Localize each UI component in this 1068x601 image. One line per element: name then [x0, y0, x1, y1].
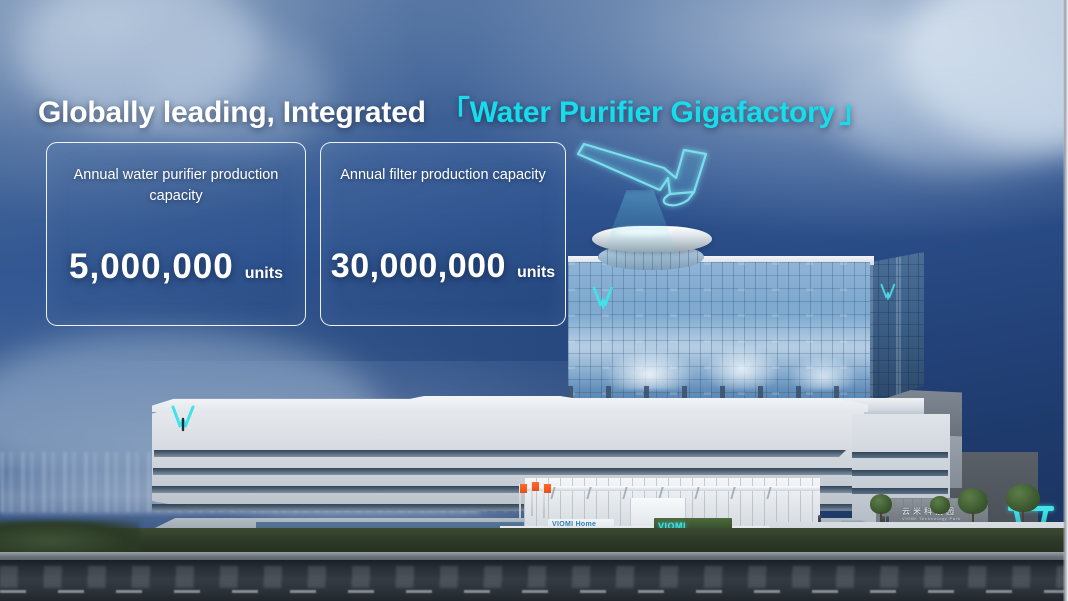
hologram-projection [564, 138, 744, 248]
viomi-v-logo-icon [880, 282, 896, 302]
stat-card-unit: units [245, 265, 283, 283]
stat-card-value: 30,000,000 [331, 247, 506, 286]
road-lane-markings [0, 590, 1068, 593]
stat-card-label: Annual water purifier production capacit… [61, 165, 291, 207]
road-sheen [0, 566, 1068, 588]
stat-card-value: 5,000,000 [69, 247, 234, 287]
tree-trunk [1022, 510, 1024, 522]
stat-card-value-row: 30,000,000 units [321, 247, 565, 286]
stat-card-label: Annual filter production capacity [335, 165, 551, 186]
stat-card-value-row: 5,000,000 units [47, 247, 305, 287]
page-title-bracket-open: 「 [440, 96, 470, 129]
slide-right-edge [1063, 0, 1068, 601]
annex-window-band [852, 452, 948, 458]
annex-window-band [852, 470, 948, 476]
annex-window-band [852, 488, 948, 494]
tree-icon [870, 494, 892, 514]
viomi-v-logo-hologram-icon [564, 138, 744, 224]
flag-icon [532, 482, 539, 491]
page-title-accent: Water Purifier Gigafactory [470, 96, 835, 129]
factory-roof [152, 396, 868, 412]
page-title: Globally leading, Integrated「Water Purif… [38, 98, 869, 128]
cloud-icon [150, 30, 330, 150]
stat-card-filter-capacity[interactable]: Annual filter production capacity 30,000… [320, 142, 566, 326]
stat-card-water-purifier-capacity[interactable]: Annual water purifier production capacit… [46, 142, 306, 326]
entrance-canopy [524, 486, 820, 491]
page-title-lead: Globally leading, Integrated [38, 96, 426, 129]
stat-card-unit: units [517, 264, 555, 282]
tree-icon [930, 496, 950, 514]
flag-icon [544, 484, 551, 493]
entrance-signboard-text: VIOMI Home [552, 521, 596, 528]
tree-icon [958, 488, 988, 514]
page-title-bracket-close: 」 [839, 96, 869, 129]
campus-name-subtext: VIOMI Technology Park [902, 516, 961, 521]
factory-window-band [154, 450, 846, 457]
viomi-v-logo-icon [592, 286, 614, 310]
flag-icon [520, 484, 527, 493]
factory-window-band [153, 468, 853, 475]
slide-canvas: VIOMI VIOMI Home 云米科技园 VIOMI Technology … [0, 0, 1068, 601]
tree-icon [1006, 484, 1040, 512]
viomi-v-logo-icon [170, 404, 196, 432]
shrub-cluster [0, 520, 140, 554]
